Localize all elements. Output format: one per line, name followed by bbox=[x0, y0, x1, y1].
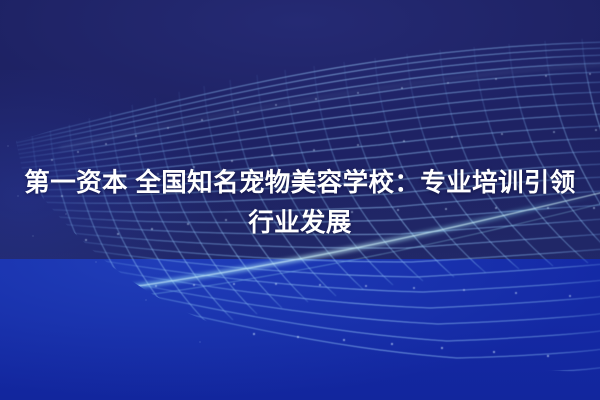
headline-line-2: 行业发展 bbox=[0, 203, 600, 243]
headline-line-1: 第一资本 全国知名宠物美容学校：专业培训引领 bbox=[0, 163, 600, 203]
banner-headline: 第一资本 全国知名宠物美容学校：专业培训引领 行业发展 bbox=[0, 163, 600, 243]
banner-canvas: 第一资本 全国知名宠物美容学校：专业培训引领 行业发展 bbox=[0, 0, 600, 400]
